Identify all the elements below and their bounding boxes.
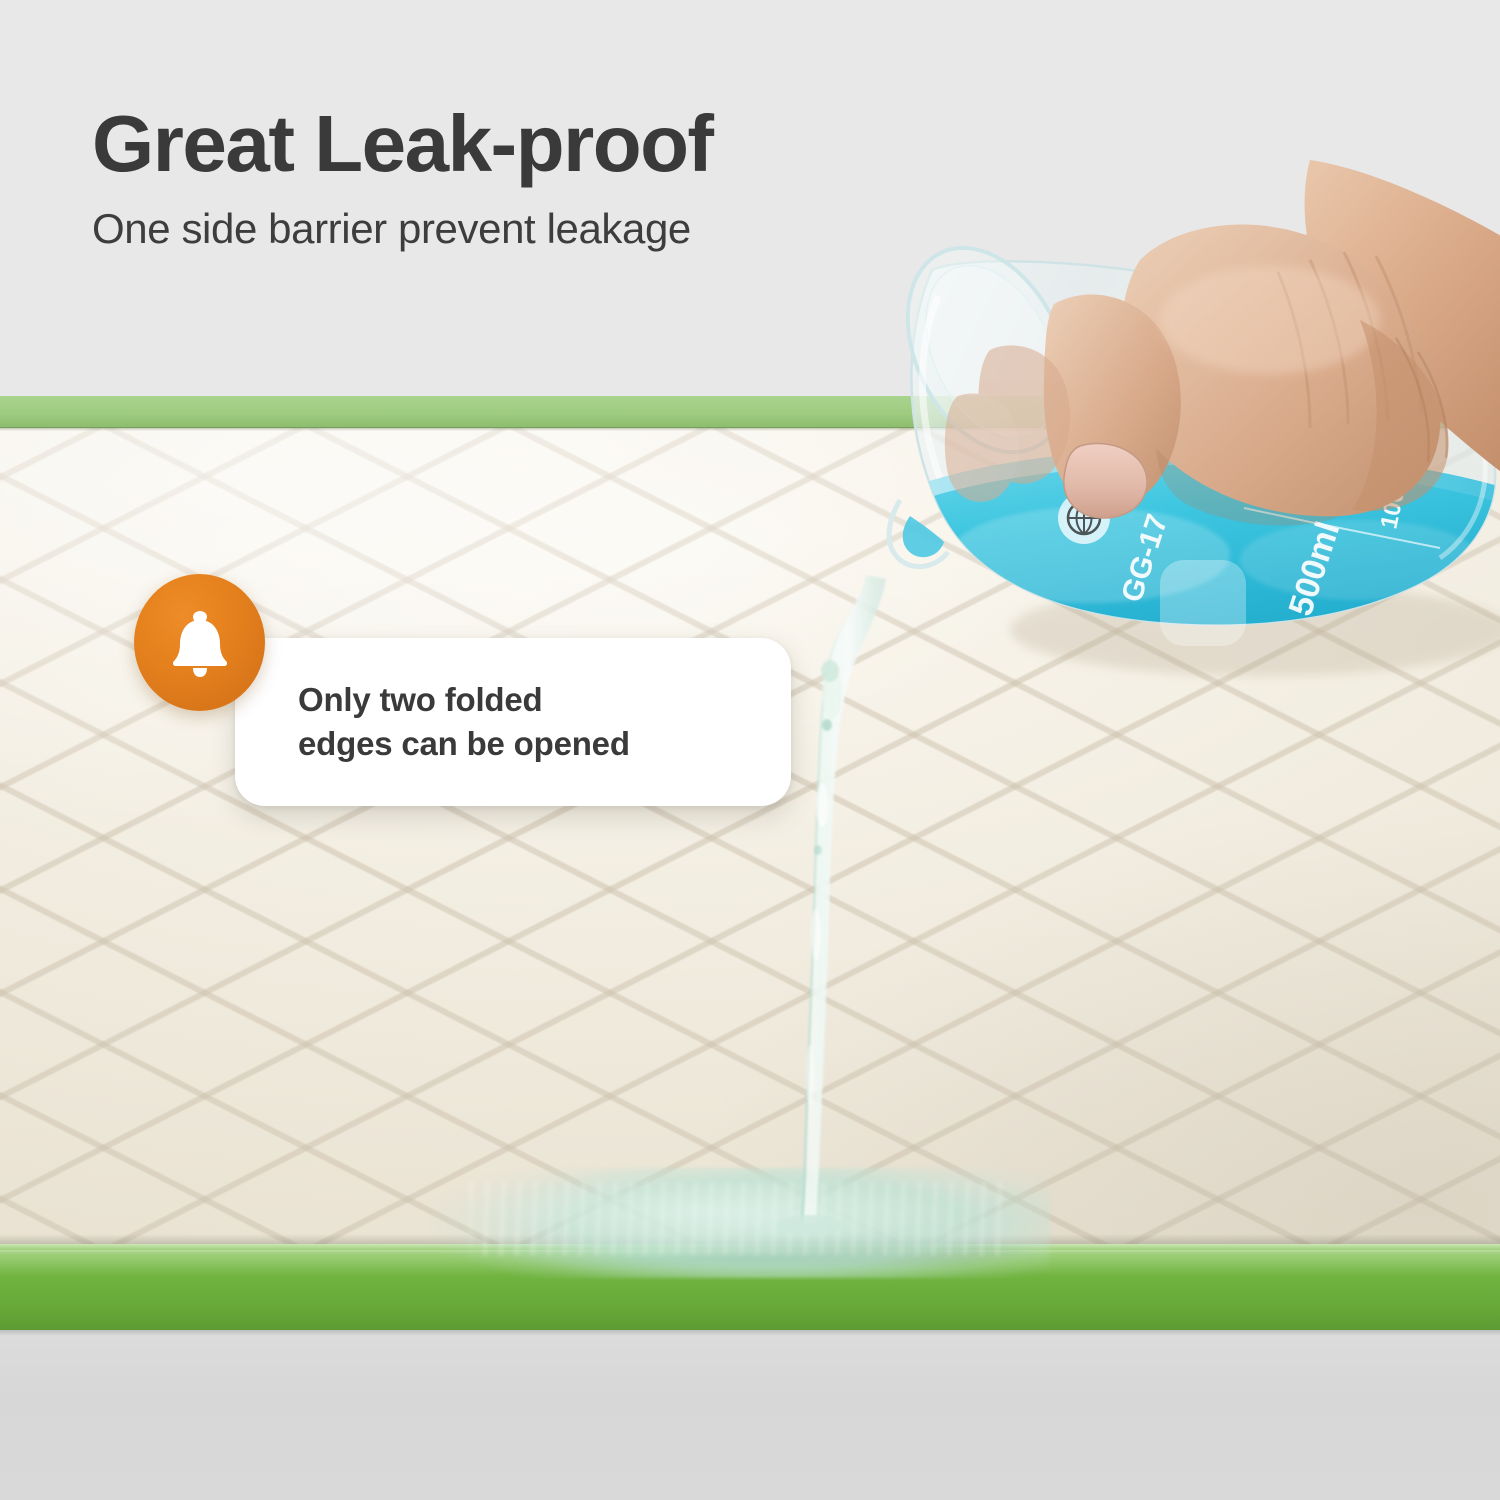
callout-card: Only two folded edges can be opened <box>235 638 791 806</box>
bell-icon-badge <box>134 574 265 711</box>
product-feature-image: Great Leak-proof One side barrier preven… <box>0 0 1500 1500</box>
callout-text: Only two folded edges can be opened <box>298 678 630 766</box>
page-title: Great Leak-proof <box>92 104 1092 184</box>
bell-icon <box>168 608 232 678</box>
floor-backdrop <box>0 1330 1500 1500</box>
puddle-sheen <box>470 1182 1010 1256</box>
beaker-and-hand: 500 APPROX 300 200 100 GG-17 500ml <box>840 200 1500 760</box>
puddle-front-edge <box>445 1255 1045 1281</box>
